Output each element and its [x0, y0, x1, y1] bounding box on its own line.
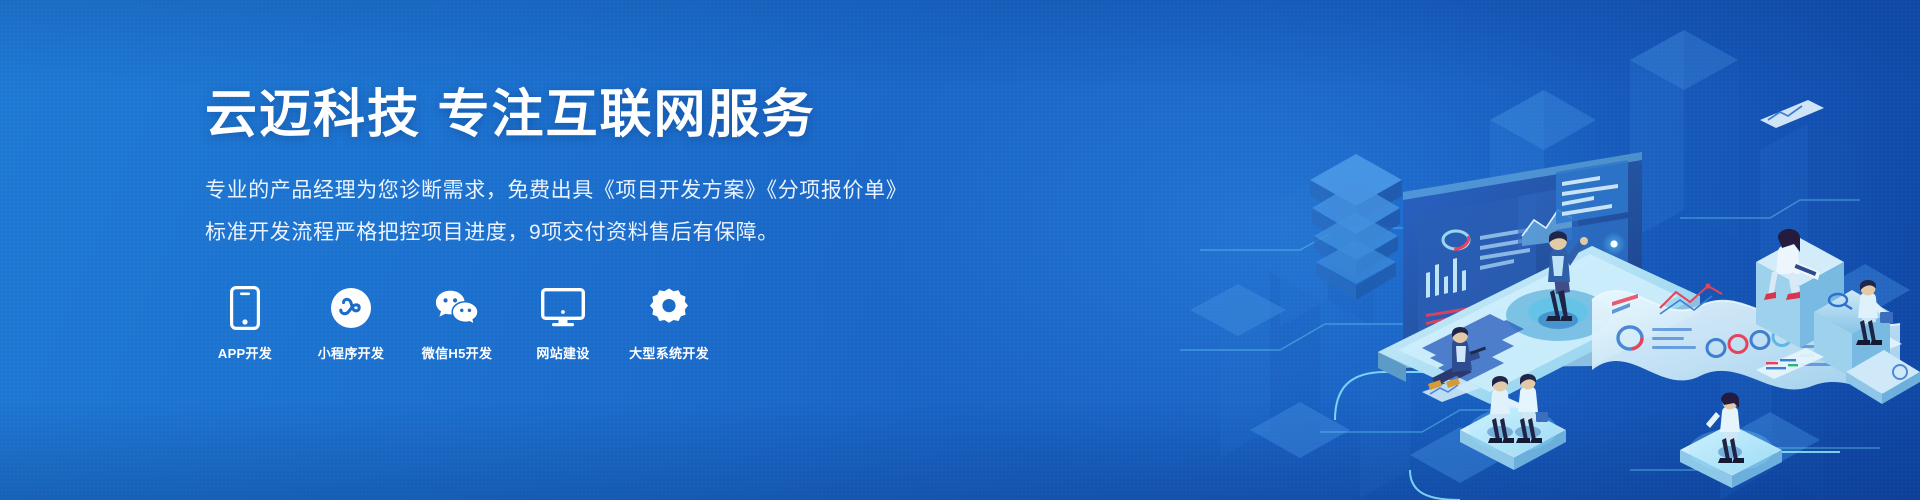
service-item-app[interactable]: APP开发 [205, 286, 285, 362]
subtitle-line-2: 标准开发流程严格把控项目进度，9项交付资料售后有保障。 [205, 216, 779, 246]
service-list: APP开发 小程序开发 [205, 286, 709, 362]
service-item-large-system[interactable]: 大型系统开发 [629, 286, 709, 362]
mobile-phone-icon [223, 286, 267, 330]
service-item-website[interactable]: 网站建设 [523, 286, 603, 362]
service-label: 网站建设 [536, 343, 589, 362]
monitor-icon [541, 286, 585, 330]
service-label: APP开发 [218, 343, 272, 362]
wechat-icon [435, 286, 479, 330]
server-stack [1310, 154, 1402, 300]
hero-banner: 云迈科技 专注互联网服务 专业的产品经理为您诊断需求，免费出具《项目开发方案》《… [0, 0, 1920, 500]
mini-program-icon [329, 286, 373, 330]
service-label: 微信H5开发 [422, 343, 492, 362]
service-item-mini-program[interactable]: 小程序开发 [311, 286, 391, 362]
service-item-wechat-h5[interactable]: 微信H5开发 [417, 286, 497, 362]
service-label: 小程序开发 [318, 343, 385, 362]
service-label: 大型系统开发 [629, 343, 709, 362]
gear-icon [647, 286, 691, 330]
floating-card-top-right [1760, 100, 1824, 128]
page-title: 云迈科技 专注互联网服务 [205, 72, 815, 147]
hero-illustration [1160, 0, 1920, 500]
subtitle-line-1: 专业的产品经理为您诊断需求，免费出具《项目开发方案》《分项报价单》 [205, 174, 907, 204]
banner-content: 云迈科技 专注互联网服务 专业的产品经理为您诊断需求，免费出具《项目开发方案》《… [205, 0, 965, 500]
